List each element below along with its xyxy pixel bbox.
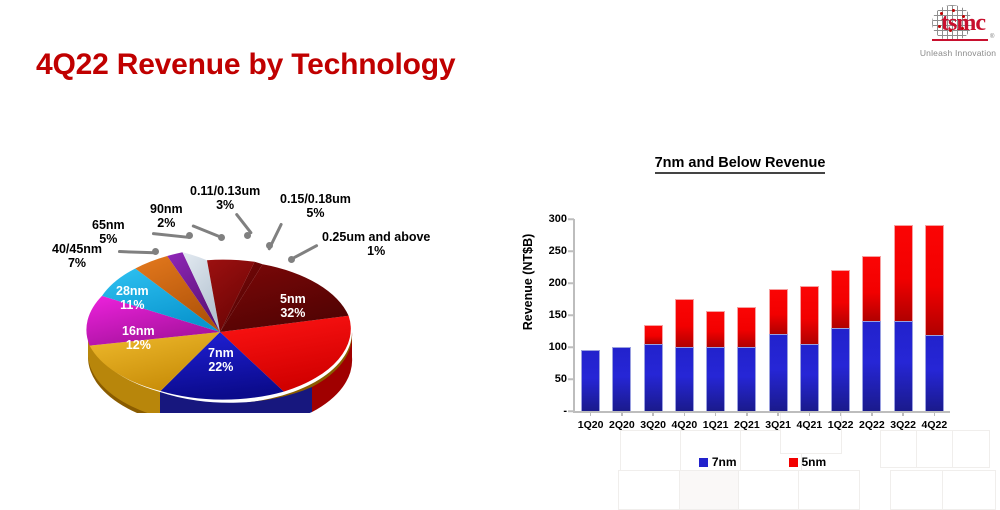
x-axis-tick-mark — [715, 411, 717, 416]
bar-segment-7nm[interactable] — [737, 347, 756, 411]
tsmc-logo: tsmc ® Unleash Innovation — [918, 4, 998, 66]
bar-column[interactable] — [862, 255, 881, 411]
leader-line-011-013um — [235, 212, 253, 234]
bar-segment-7nm[interactable] — [800, 344, 819, 411]
leader-dot-65nm — [186, 232, 193, 239]
legend-label-7nm: 7nm — [712, 455, 737, 469]
y-axis-tick-mark — [568, 410, 574, 412]
pie-slice-label-65nm: 65nm 5% — [92, 218, 125, 247]
x-axis-tick-mark — [934, 411, 936, 416]
y-axis-tick-label: 50 — [555, 373, 567, 385]
legend-label-5nm: 5nm — [802, 455, 827, 469]
pie-slice-percent-011-013um: 3% — [190, 198, 260, 212]
pie-slice-percent-65nm: 5% — [92, 232, 125, 246]
bar-segment-7nm[interactable] — [581, 350, 600, 411]
x-axis-tick-label: 2Q22 — [859, 419, 885, 431]
pie-slice-name-65nm: 65nm — [92, 218, 125, 232]
y-axis-tick-label: 100 — [549, 341, 567, 353]
pie-slice-name-5nm: 5nm — [280, 292, 306, 306]
y-axis-tick-mark — [568, 250, 574, 252]
bar-segment-7nm[interactable] — [831, 328, 850, 411]
pie-slice-percent-16nm: 12% — [122, 338, 155, 352]
bar-column[interactable] — [800, 286, 819, 411]
x-axis-tick-mark — [746, 411, 748, 416]
pie-slice-label-025um-and-above: 0.25um and above 1% — [322, 230, 430, 259]
bar-segment-5nm[interactable] — [800, 286, 819, 344]
pie-slice-name-7nm: 7nm — [208, 346, 234, 360]
bar-column[interactable] — [675, 299, 694, 411]
bar-segment-7nm[interactable] — [706, 347, 725, 411]
bar-plot-area: 30025020015010050-1Q202Q203Q204Q201Q212Q… — [575, 219, 950, 411]
bar-segment-5nm[interactable] — [831, 270, 850, 328]
bar-column[interactable] — [894, 225, 913, 411]
revenue-by-technology-pie-chart: 5nm 32% 7nm 22% 16nm 12% 28nm 11% 40/45n… — [30, 180, 500, 430]
x-axis-tick-mark — [684, 411, 686, 416]
y-axis-tick-mark — [568, 346, 574, 348]
logo-wordmark: tsmc — [928, 10, 998, 37]
bar-column[interactable] — [925, 225, 944, 411]
bar-segment-5nm[interactable] — [769, 289, 788, 334]
registered-mark: ® — [990, 34, 994, 40]
chart-legend: 7nm 5nm — [575, 455, 950, 469]
x-axis-tick-label: 1Q20 — [578, 419, 604, 431]
logo-underline — [932, 39, 988, 41]
x-axis-tick-label: 4Q22 — [922, 419, 948, 431]
pie-slice-name-015-018um: 0.15/0.18um — [280, 192, 351, 206]
legend-swatch-7nm — [699, 458, 708, 467]
x-axis-tick-label: 2Q20 — [609, 419, 635, 431]
x-axis-tick-mark — [840, 411, 842, 416]
pie-slice-percent-28nm: 11% — [116, 298, 149, 312]
legend-item-5nm: 5nm — [789, 455, 827, 469]
pie-slice-percent-025um-and-above: 1% — [322, 244, 430, 258]
pie-slice-label-5nm: 5nm 32% — [280, 292, 306, 321]
bar-column[interactable] — [769, 289, 788, 411]
y-axis-tick-label: - — [563, 405, 567, 417]
pie-slice-percent-015-018um: 5% — [280, 206, 351, 220]
x-axis-tick-mark — [902, 411, 904, 416]
pie-slice-label-015-018um: 0.15/0.18um 5% — [280, 192, 351, 221]
seven-nm-and-below-revenue-chart: 7nm and Below Revenue Revenue (NT$B) 300… — [505, 145, 975, 485]
bar-column[interactable] — [737, 307, 756, 411]
bar-segment-5nm[interactable] — [894, 225, 913, 321]
y-axis-tick-label: 200 — [549, 277, 567, 289]
y-axis-tick-label: 300 — [549, 213, 567, 225]
logo-mark: tsmc ® — [918, 4, 998, 48]
x-axis-tick-mark — [777, 411, 779, 416]
pie-slice-name-011-013um: 0.11/0.13um — [190, 184, 260, 198]
bar-segment-5nm[interactable] — [737, 307, 756, 347]
bar-chart-title-text: 7nm and Below Revenue — [655, 155, 826, 174]
leader-dot-011-013um — [244, 232, 251, 239]
bar-segment-7nm[interactable] — [644, 344, 663, 411]
pie-slice-percent-5nm: 32% — [280, 306, 306, 320]
pie-slice-label-7nm: 7nm 22% — [208, 346, 234, 375]
bar-segment-7nm[interactable] — [862, 321, 881, 411]
bar-column[interactable] — [581, 350, 600, 411]
y-axis-tick-label: 250 — [549, 245, 567, 257]
logo-tagline: Unleash Innovation — [918, 48, 998, 58]
bar-column[interactable] — [644, 325, 663, 411]
x-axis-tick-mark — [652, 411, 654, 416]
bar-segment-5nm[interactable] — [862, 256, 881, 322]
x-axis-tick-mark — [621, 411, 623, 416]
x-axis-tick-label: 3Q22 — [890, 419, 916, 431]
bar-column[interactable] — [831, 270, 850, 411]
leader-dot-025um-and-above — [288, 256, 295, 263]
pie-slice-label-28nm: 28nm 11% — [116, 284, 149, 313]
pie-slice-name-90nm: 90nm — [150, 202, 183, 216]
x-axis-tick-mark — [809, 411, 811, 416]
pie-slice-label-90nm: 90nm 2% — [150, 202, 183, 231]
y-axis-tick-mark — [568, 378, 574, 380]
x-axis-tick-label: 1Q21 — [703, 419, 729, 431]
y-axis-tick-mark — [568, 282, 574, 284]
leader-dot-40-45nm — [152, 248, 159, 255]
x-axis-line — [573, 411, 950, 413]
bar-column[interactable] — [612, 347, 631, 411]
x-axis-tick-mark — [871, 411, 873, 416]
bar-segment-7nm[interactable] — [925, 335, 944, 411]
pie-slice-name-16nm: 16nm — [122, 324, 155, 338]
bar-segment-5nm[interactable] — [925, 225, 944, 335]
legend-swatch-5nm — [789, 458, 798, 467]
pie-slice-label-16nm: 16nm 12% — [122, 324, 155, 353]
x-axis-tick-mark — [590, 411, 592, 416]
bar-segment-5nm[interactable] — [675, 299, 694, 347]
pie-slice-label-011-013um: 0.11/0.13um 3% — [190, 184, 260, 213]
leader-dot-015-018um — [266, 242, 273, 249]
y-axis-tick-mark — [568, 314, 574, 316]
bar-segment-7nm[interactable] — [769, 334, 788, 411]
bar-segment-5nm[interactable] — [644, 325, 663, 344]
bar-segment-5nm[interactable] — [706, 311, 725, 347]
y-axis-title: Revenue (NT$B) — [521, 197, 535, 367]
page-title: 4Q22 Revenue by Technology — [36, 48, 455, 82]
bar-segment-7nm[interactable] — [612, 347, 631, 411]
bar-column[interactable] — [706, 311, 725, 411]
pie-slice-percent-7nm: 22% — [208, 360, 234, 374]
y-axis-tick-mark — [568, 218, 574, 220]
x-axis-tick-label: 4Q20 — [672, 419, 698, 431]
legend-item-7nm: 7nm — [699, 455, 737, 469]
x-axis-tick-label: 3Q20 — [640, 419, 666, 431]
x-axis-tick-label: 1Q22 — [828, 419, 854, 431]
x-axis-tick-label: 4Q21 — [797, 419, 823, 431]
pie-slice-percent-40-45nm: 7% — [52, 256, 102, 270]
bar-chart-title: 7nm and Below Revenue — [505, 155, 975, 171]
pie-slice-percent-90nm: 2% — [150, 216, 183, 230]
bar-segment-7nm[interactable] — [894, 321, 913, 411]
pie-slice-name-025um-and-above: 0.25um and above — [322, 230, 430, 244]
x-axis-tick-label: 2Q21 — [734, 419, 760, 431]
pie-slice-name-28nm: 28nm — [116, 284, 149, 298]
y-axis-tick-label: 150 — [549, 309, 567, 321]
bar-segment-7nm[interactable] — [675, 347, 694, 411]
leader-dot-90nm — [218, 234, 225, 241]
x-axis-tick-label: 3Q21 — [765, 419, 791, 431]
pie-stage — [80, 235, 360, 410]
